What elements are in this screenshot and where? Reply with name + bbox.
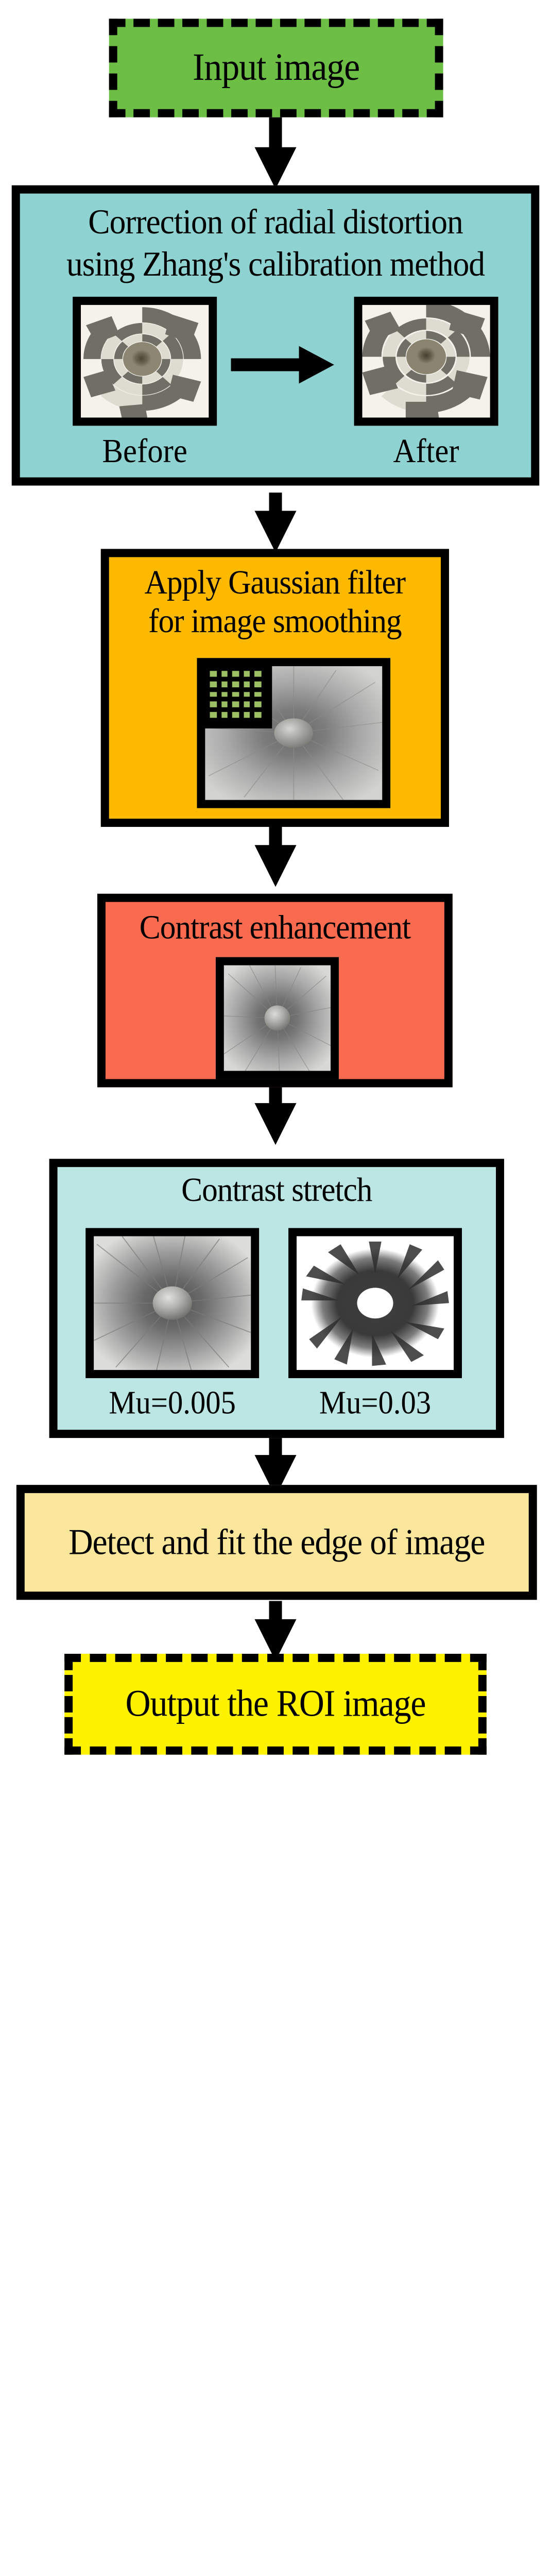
node-correction-label-line2: using Zhang's calibration method <box>38 245 513 284</box>
kernel-cell <box>232 712 239 718</box>
kernel-cell <box>244 691 250 697</box>
node-input-image-label: Input image <box>128 46 424 90</box>
kernel-cell <box>232 691 239 697</box>
node-gaussian-filter[interactable]: Apply Gaussian filter for image smoothin… <box>101 549 449 827</box>
node-contrast-enhancement-label: Contrast enhancement <box>117 909 433 947</box>
kernel-cell <box>221 712 228 718</box>
node-input-image[interactable]: Input image <box>109 19 443 117</box>
kernel-cell <box>232 702 239 707</box>
kernel-cell <box>244 681 250 687</box>
node-output-roi-label: Output the ROI image <box>87 1683 464 1725</box>
kernel-cell <box>221 671 228 676</box>
node-radial-distortion-correction[interactable]: Correction of radial distortion using Zh… <box>12 185 539 486</box>
kernel-cell <box>244 671 250 676</box>
kernel-cell <box>232 681 239 687</box>
kernel-cell <box>210 702 217 707</box>
stretch-image-mu-0005 <box>85 1228 259 1378</box>
bore-image-binarized-stretch <box>297 1236 454 1370</box>
bore-image-contrast <box>224 965 331 1071</box>
kernel-cell <box>221 691 228 697</box>
node-output-roi[interactable]: Output the ROI image <box>64 1654 487 1755</box>
node-edge-detection-label: Detect and fit the edge of image <box>42 1522 511 1563</box>
contrast-enhanced-image <box>216 957 339 1079</box>
kernel-cell <box>255 712 262 718</box>
before-calibration-image <box>73 297 217 426</box>
kernel-cell <box>221 681 228 687</box>
node-gaussian-label-line1: Apply Gaussian filter <box>120 564 429 602</box>
kernel-cell <box>255 681 262 687</box>
stretch-caption-mu-0005: Mu=0.005 <box>93 1385 252 1423</box>
bore-image-gray-stretch <box>94 1236 251 1370</box>
node-edge-detection[interactable]: Detect and fit the edge of image <box>16 1485 537 1600</box>
kernel-cell <box>210 691 217 697</box>
node-contrast-stretch-label: Contrast stretch <box>73 1172 480 1210</box>
kernel-cell <box>255 671 262 676</box>
kernel-cell <box>210 671 217 676</box>
node-contrast-stretch[interactable]: Contrast stretch <box>49 1159 504 1438</box>
node-contrast-enhancement[interactable]: Contrast enhancement <box>97 894 453 1088</box>
stretch-image-mu-003 <box>288 1228 462 1378</box>
kernel-cell <box>255 702 262 707</box>
kernel-cell <box>232 671 239 676</box>
kernel-cell <box>244 712 250 718</box>
after-calibration-image <box>354 297 498 426</box>
node-correction-label-line1: Correction of radial distortion <box>38 203 513 242</box>
after-label: After <box>360 433 493 471</box>
kernel-cell <box>255 691 262 697</box>
checkerboard-tunnel-distorted <box>81 305 209 418</box>
stretch-caption-mu-003: Mu=0.03 <box>296 1385 455 1423</box>
node-gaussian-label-line2: for image smoothing <box>120 603 429 641</box>
before-label: Before <box>78 433 211 471</box>
kernel-cell <box>210 712 217 718</box>
flowchart-canvas: Input image Correction of radial distort… <box>0 0 551 1783</box>
checkerboard-tunnel-corrected <box>362 305 490 418</box>
before-after-arrow <box>231 344 336 386</box>
gaussian-kernel-grid <box>199 660 272 728</box>
kernel-cell <box>221 702 228 707</box>
kernel-cell <box>210 681 217 687</box>
kernel-cell <box>244 702 250 707</box>
